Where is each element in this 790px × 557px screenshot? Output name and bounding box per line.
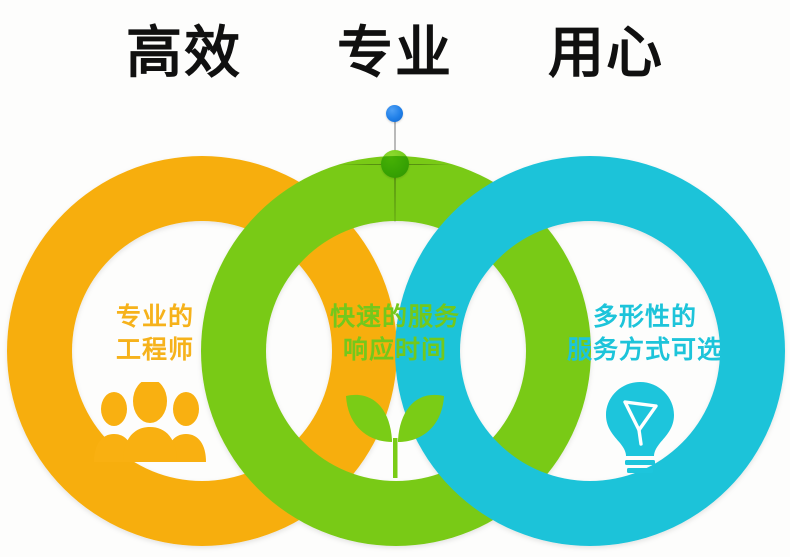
orange-label-line-2: 工程师 <box>60 333 250 366</box>
sprout-plant-icon <box>332 378 458 478</box>
orange-circle-label: 专业的 工程师 <box>60 300 250 366</box>
blue-label-line-2: 服务方式可选 <box>528 333 762 366</box>
blue-label-line-1: 多形性的 <box>528 300 762 333</box>
green-label-line-1: 快速的服务 <box>290 300 500 333</box>
people-group-icon <box>92 382 208 462</box>
infographic-canvas: 高效 专业 用心 <box>0 0 790 557</box>
green-label-line-2: 响应时间 <box>290 333 500 366</box>
green-circle-label: 快速的服务 响应时间 <box>290 300 500 366</box>
orange-label-line-1: 专业的 <box>60 300 250 333</box>
blue-circle-label: 多形性的 服务方式可选 <box>528 300 762 366</box>
lightbulb-icon <box>600 380 680 476</box>
